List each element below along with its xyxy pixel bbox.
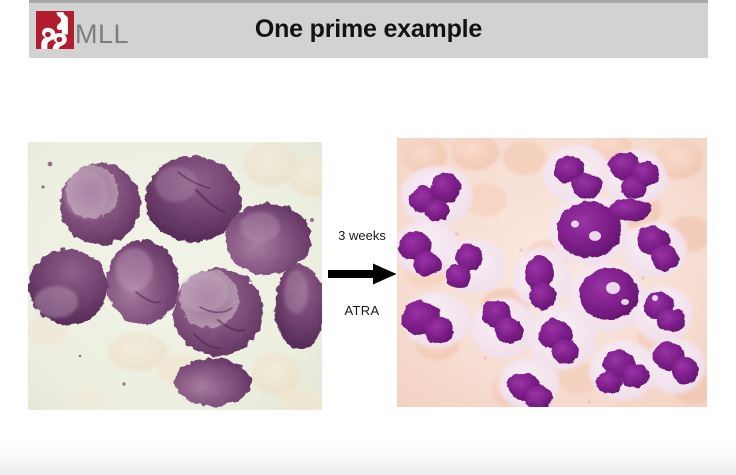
page-title: One prime example [29, 13, 708, 45]
drug-label: ATRA [327, 303, 397, 319]
slide-root: MLL One prime example [0, 0, 736, 475]
micrograph-before-canvas [28, 142, 322, 410]
duration-label: 3 weeks [327, 228, 397, 244]
arrow-container [327, 263, 397, 285]
treatment-transition: 3 weeks ATRA [327, 228, 397, 319]
micrograph-before-treatment [28, 142, 322, 410]
micrograph-after-canvas [397, 138, 707, 407]
micrograph-after-treatment [397, 138, 707, 407]
right-arrow-icon [328, 263, 397, 285]
